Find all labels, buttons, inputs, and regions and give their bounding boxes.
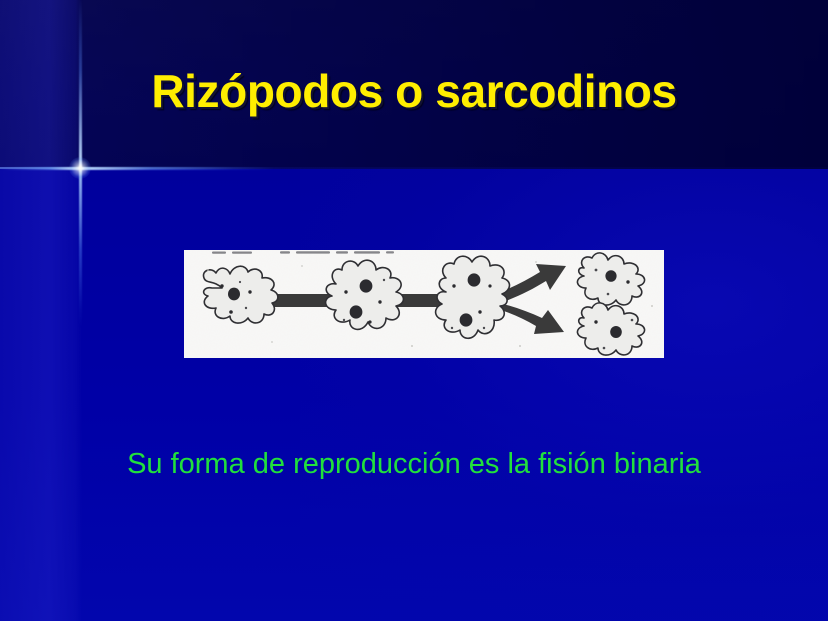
presentation-slide: Rizópodos o sarcodinos xyxy=(0,0,828,621)
amoeba-fission-svg xyxy=(184,250,664,358)
cropped-scan-text xyxy=(212,251,394,254)
slide-caption: Su forma de reproducción es la fisión bi… xyxy=(0,448,828,481)
figure-image xyxy=(184,250,664,358)
background-horizontal-seam xyxy=(0,167,828,169)
background-right-glow xyxy=(300,169,828,621)
slide-title: Rizópodos o sarcodinos xyxy=(0,64,828,118)
